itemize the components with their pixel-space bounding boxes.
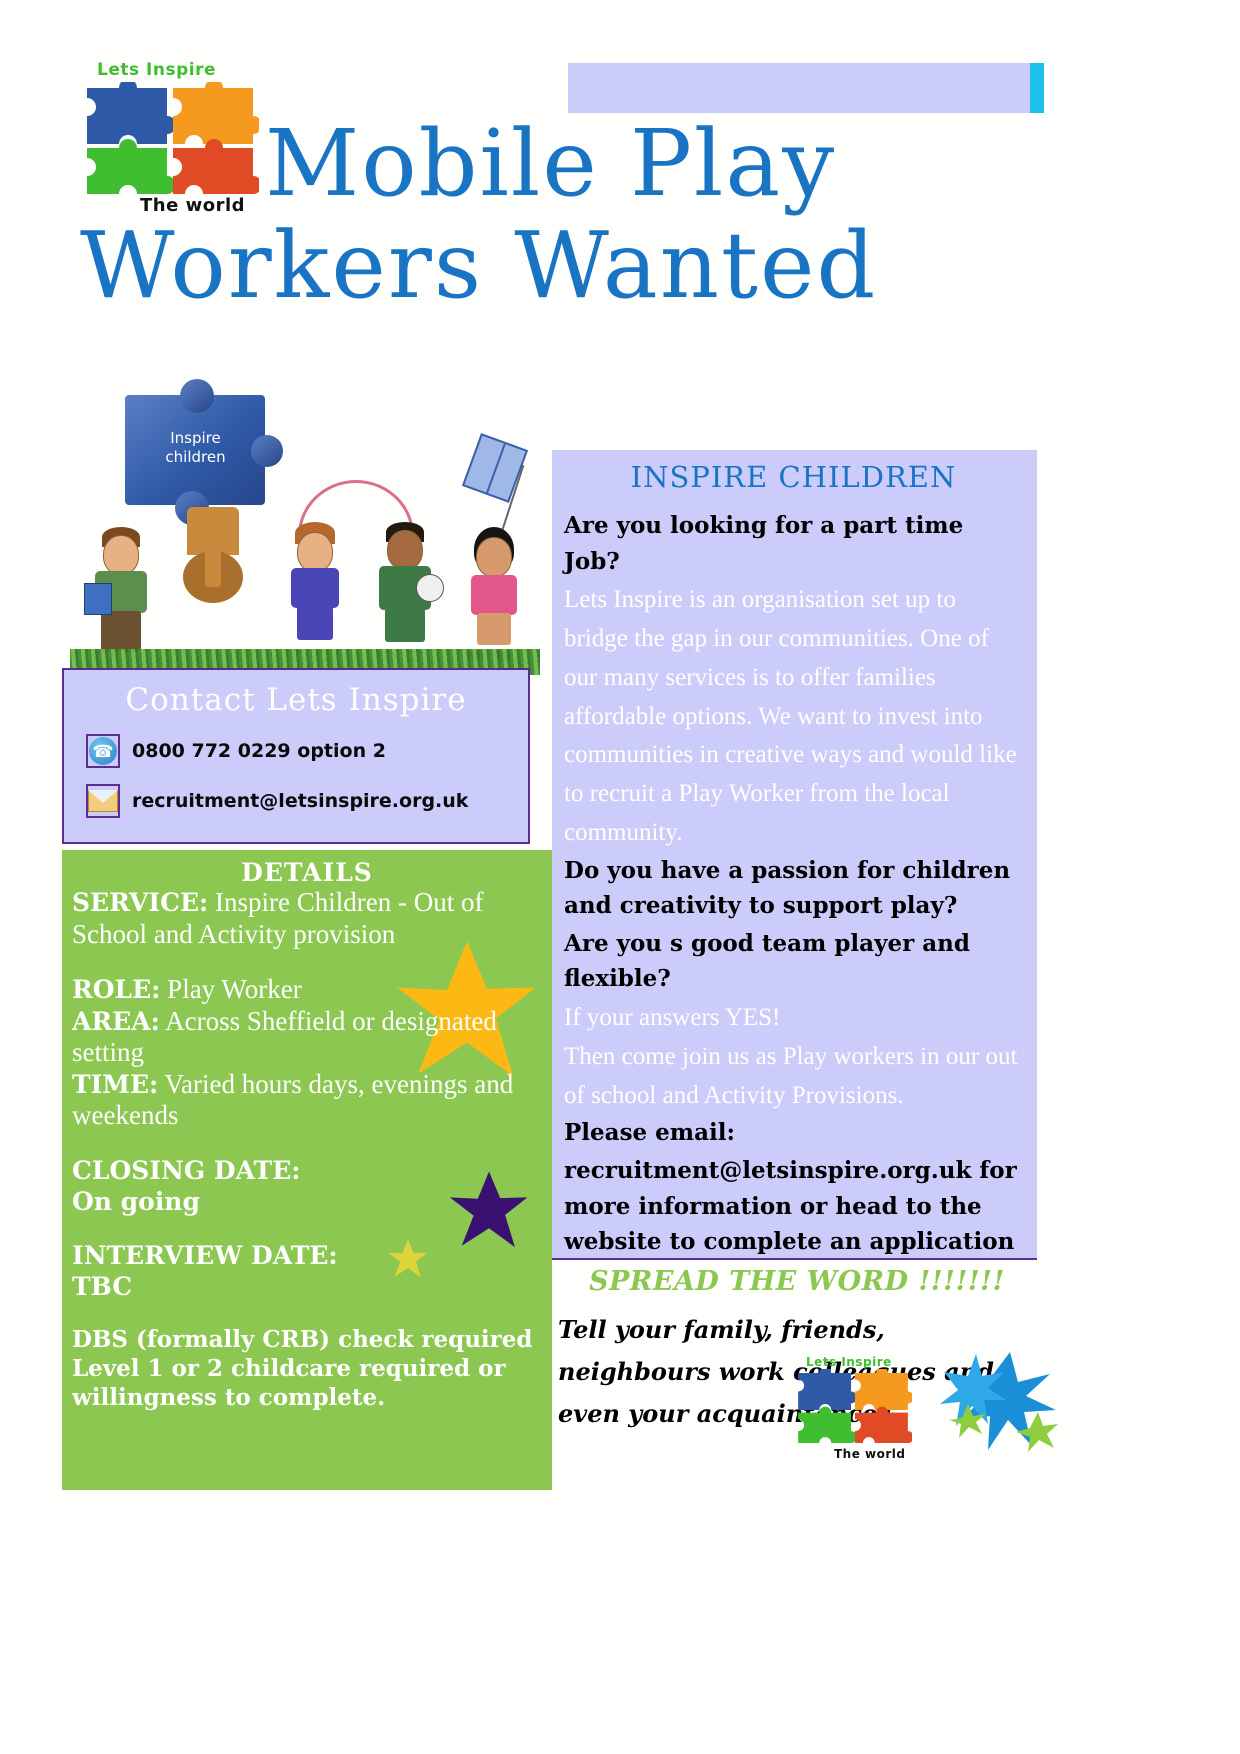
details-heading: DETAILS [62,850,552,887]
child-figure [372,522,438,657]
contact-email: recruitment@letsinspire.org.uk [132,790,468,812]
footer-logo-top-text: Lets Inspire [806,1355,892,1369]
details-dbs: DBS (formally CRB) check required Level … [72,1326,544,1412]
header-banner-accent [1030,63,1044,113]
child-figure [462,527,526,657]
envelope-icon [86,784,120,818]
puzzle-label: Inspire children [143,429,248,467]
contact-box: Contact Lets Inspire ☎ 0800 772 0229 opt… [62,668,530,844]
details-dbs-line-2: Level 1 or 2 childcare required or [72,1355,544,1384]
info-paragraph-1: Lets Inspire is an organisation set up t… [564,581,1023,852]
info-email-instructions: recruitment@letsinspire.org.uk for more … [564,1153,1023,1260]
contact-heading: Contact Lets Inspire [64,682,528,718]
child-figure [178,507,248,657]
info-paragraph-3: Then come join us as Play workers in our… [564,1038,1023,1116]
contact-email-row: recruitment@letsinspire.org.uk [86,784,528,818]
details-closing-date-value: On going [72,1187,544,1218]
info-question-3: Are you s good team player and flexible? [564,926,1023,997]
star-burst-icon [940,1350,1070,1460]
details-service: SERVICE: Inspire Children - Out of Schoo… [72,887,544,950]
details-content: SERVICE: Inspire Children - Out of Schoo… [62,887,552,1412]
poster-page: Lets Inspire The world Mobile Play Worke… [0,0,1240,1754]
page-title: Mobile Play Workers Wanted [80,120,900,311]
details-interview-date-label: INTERVIEW DATE: [72,1241,544,1272]
child-figure [282,522,348,657]
puzzle-logo-icon [794,1369,912,1447]
details-area-label: AREA: [72,1007,160,1036]
details-panel: DETAILS SERVICE: Inspire Children - Out … [62,850,552,1490]
header-banner [568,63,1030,113]
details-interview-date-value: TBC [72,1272,544,1303]
footer-logo: Lets Inspire The world [790,1355,920,1465]
title-line-1: Mobile Play [265,120,900,208]
info-email-label: Please email: [564,1115,1023,1151]
details-dbs-line-3: willingness to complete. [72,1384,544,1413]
info-heading: INSPIRE CHILDREN [564,460,1023,494]
details-role: ROLE: Play Worker [72,974,544,1006]
details-time: TIME: Varied hours days, evenings and we… [72,1069,544,1132]
info-paragraph-2: If your answers YES! [564,999,1023,1038]
inspire-children-puzzle-icon: Inspire children [125,395,285,520]
title-line-2: Workers Wanted [80,222,900,310]
footer-logo-bottom-text: The world [834,1447,906,1461]
details-dbs-line-1: DBS (formally CRB) check required [72,1326,544,1355]
info-question-2: Do you have a passion for children and c… [564,853,1023,924]
info-question-1: Are you looking for a part time Job? [564,508,1023,579]
telephone-icon: ☎ [86,734,120,768]
contact-phone-row: ☎ 0800 772 0229 option 2 [86,734,528,768]
info-panel: INSPIRE CHILDREN Are you looking for a p… [552,450,1037,1260]
details-area: AREA: Across Sheffield or designated set… [72,1006,544,1069]
contact-phone: 0800 772 0229 option 2 [132,740,386,762]
details-role-label: ROLE: [72,975,160,1004]
details-role-value: Play Worker [167,974,302,1004]
spread-title: SPREAD THE WORD !!!!!!! [552,1266,1042,1297]
details-time-label: TIME: [72,1070,158,1099]
children-illustration: Inspire children [70,385,550,675]
details-service-label: SERVICE: [72,888,208,917]
child-figure [90,527,152,657]
details-closing-date-label: CLOSING DATE: [72,1156,544,1187]
kite-icon [462,433,528,503]
logo-top-text: Lets Inspire [97,60,216,80]
